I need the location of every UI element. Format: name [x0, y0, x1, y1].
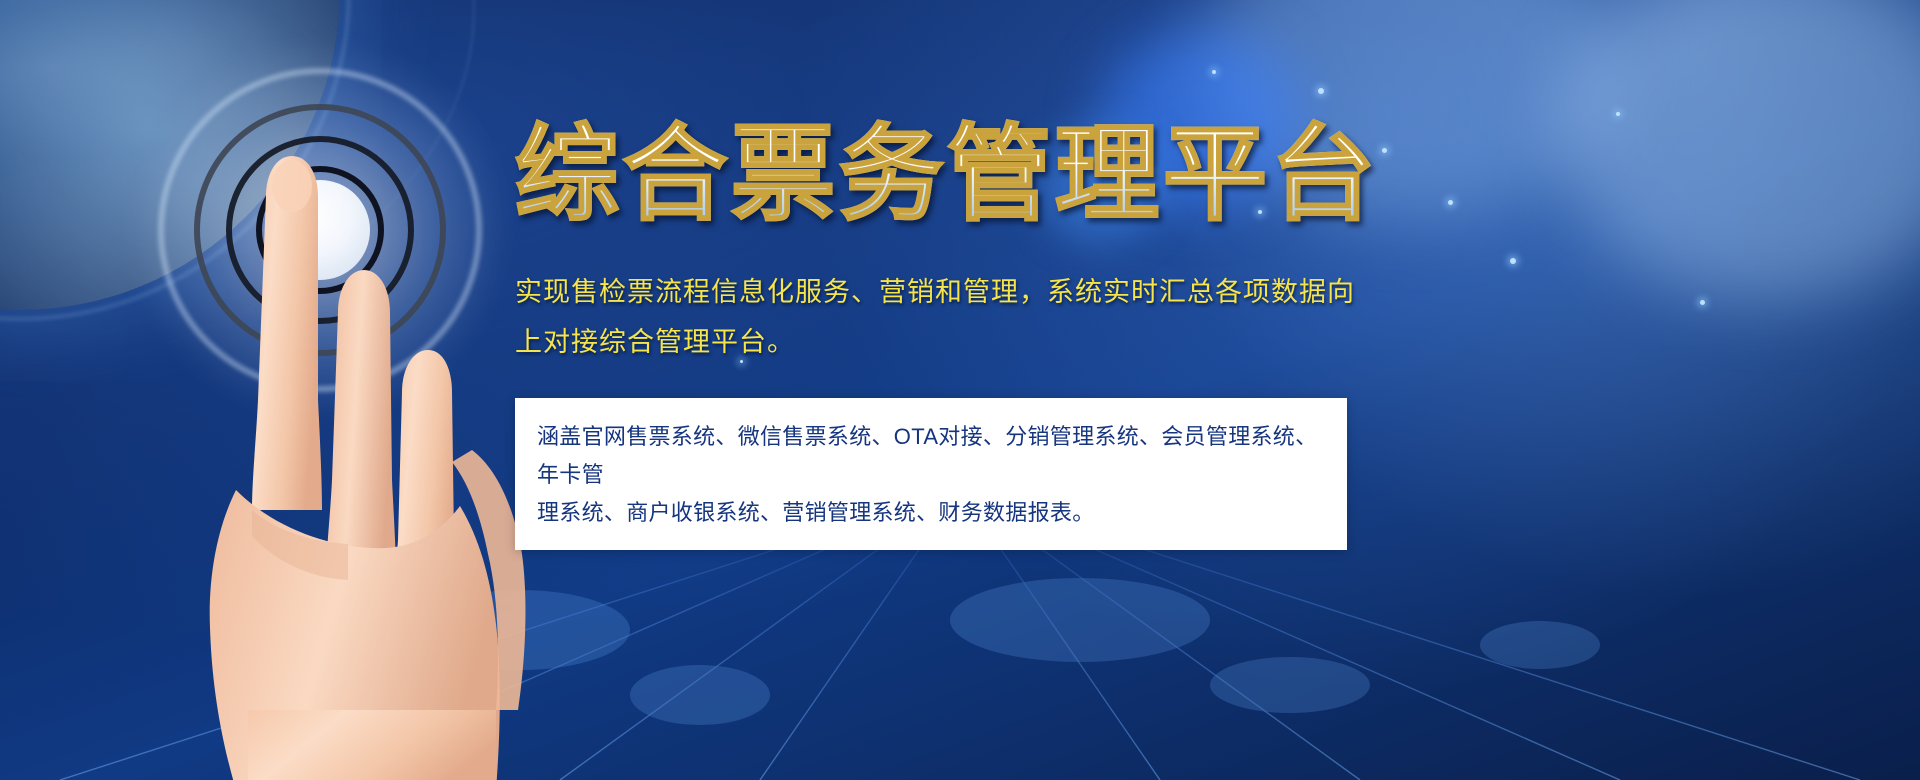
subtitle-line-1: 实现售检票流程信息化服务、营销和管理，系统实时汇总各项数据向: [515, 268, 1360, 318]
info-box-line-2: 理系统、商户收银系统、营销管理系统、财务数据报表。: [537, 494, 1323, 532]
page-title: 综合票务管理平台: [515, 120, 1375, 232]
banner-content: 综合票务管理平台 实现售检票流程信息化服务、营销和管理，系统实时汇总各项数据向 …: [515, 120, 1375, 550]
subtitle-line-2: 上对接综合管理平台。: [515, 318, 1360, 368]
banner-subtitle: 实现售检票流程信息化服务、营销和管理，系统实时汇总各项数据向 上对接综合管理平台…: [515, 268, 1360, 368]
star-dot: [1212, 70, 1216, 74]
star-dot: [1318, 88, 1324, 94]
feature-info-box: 涵盖官网售票系统、微信售票系统、OTA对接、分销管理系统、会员管理系统、年卡管 …: [515, 398, 1347, 549]
hero-banner: 综合票务管理平台 实现售检票流程信息化服务、营销和管理，系统实时汇总各项数据向 …: [0, 0, 1920, 780]
star-dot: [1382, 148, 1387, 153]
glow-blob-2: [1560, 0, 1920, 300]
star-dot: [1448, 200, 1453, 205]
star-dot: [1700, 300, 1705, 305]
pointing-hand-graphic: [196, 150, 526, 780]
star-dot: [1616, 112, 1620, 116]
star-dot: [1510, 258, 1516, 264]
info-box-line-1: 涵盖官网售票系统、微信售票系统、OTA对接、分销管理系统、会员管理系统、年卡管: [537, 418, 1323, 494]
